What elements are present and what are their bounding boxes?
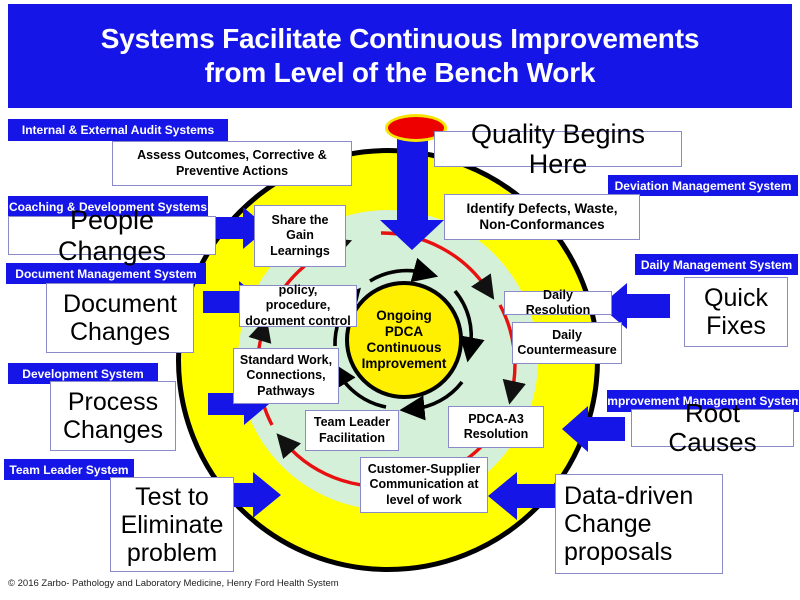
step-text: Daily Resolution <box>510 288 606 319</box>
cycle-step-team-leader-facilitation[interactable]: Team Leader Facilitation <box>305 410 399 451</box>
callout-text: Quality Begins Here <box>441 119 675 179</box>
hub-line-3: Continuous <box>367 340 442 355</box>
hub-line-2: PDCA <box>385 324 423 339</box>
callout-text: Process Changes <box>57 388 169 444</box>
callout-test-to-eliminate-problem[interactable]: Test to Eliminate problem <box>110 477 234 572</box>
callout-quick-fixes[interactable]: Quick Fixes <box>684 277 788 347</box>
cycle-step-share-the-gain-learnings[interactable]: Share the Gain Learnings <box>254 205 346 267</box>
step-text: Share the Gain Learnings <box>260 213 340 259</box>
cycle-step-customer-supplier-communication[interactable]: Customer-Supplier Communication at level… <box>360 457 488 513</box>
callout-quality-begins-here[interactable]: Quality Begins Here <box>434 131 682 167</box>
hub-label: Ongoing PDCA Continuous Improvement <box>362 308 447 372</box>
step-text: Team Leader Facilitation <box>311 415 393 446</box>
step-text: Identify Defects, Waste, Non-Conformance… <box>450 201 634 234</box>
copyright-footer: © 2016 Zarbo- Pathology and Laboratory M… <box>8 578 339 589</box>
label-text: Document Management System <box>15 268 196 280</box>
page-title: Systems Facilitate Continuous Improvemen… <box>8 4 792 108</box>
hub-circle: Ongoing PDCA Continuous Improvement <box>345 281 463 399</box>
callout-process-changes[interactable]: Process Changes <box>50 381 176 451</box>
cycle-step-policy-procedure[interactable]: policy, procedure, document control <box>239 285 357 327</box>
title-line-2: from Level of the Bench Work <box>205 57 596 88</box>
callout-data-driven-change-proposals[interactable]: Data-driven Change proposals <box>555 474 723 574</box>
cycle-step-identify-defects[interactable]: Identify Defects, Waste, Non-Conformance… <box>444 194 640 240</box>
label-text: Daily Management System <box>641 259 792 271</box>
system-label-internal-external-audit[interactable]: Internal & External Audit Systems <box>8 119 228 141</box>
step-text: Customer-Supplier Communication at level… <box>366 462 482 508</box>
title-line-1: Systems Facilitate Continuous Improvemen… <box>101 23 699 54</box>
callout-people-changes[interactable]: People Changes <box>8 216 216 255</box>
callout-text: Document Changes <box>53 290 187 346</box>
callout-text: Test to Eliminate problem <box>117 483 227 567</box>
callout-assess-outcomes[interactable]: Assess Outcomes, Corrective & Preventive… <box>112 141 352 186</box>
step-text: policy, procedure, document control <box>245 283 351 329</box>
step-text: Standard Work, Connections, Pathways <box>239 353 333 399</box>
label-text: Internal & External Audit Systems <box>22 124 214 136</box>
cycle-step-daily-countermeasure[interactable]: Daily Countermeasure <box>512 322 622 364</box>
label-text: Deviation Management System <box>615 180 792 192</box>
system-label-daily-management[interactable]: Daily Management System <box>635 254 798 275</box>
system-label-document-management[interactable]: Document Management System <box>6 263 206 284</box>
callout-text: Root Causes <box>638 399 787 457</box>
label-text: Development System <box>22 368 143 380</box>
cycle-step-standard-work[interactable]: Standard Work, Connections, Pathways <box>233 348 339 404</box>
label-text: Team Leader System <box>9 464 128 476</box>
step-text: Daily Countermeasure <box>517 328 616 359</box>
step-text: PDCA-A3 Resolution <box>454 412 538 443</box>
diagram-canvas: Systems Facilitate Continuous Improvemen… <box>0 0 800 600</box>
callout-text: Quick Fixes <box>691 284 781 340</box>
hub-line-1: Ongoing <box>376 308 431 323</box>
title-text: Systems Facilitate Continuous Improvemen… <box>101 22 699 90</box>
callout-text: Assess Outcomes, Corrective & Preventive… <box>118 148 346 179</box>
callout-text: Data-driven Change proposals <box>564 482 716 566</box>
cycle-step-daily-resolution[interactable]: Daily Resolution <box>504 291 612 315</box>
callout-document-changes[interactable]: Document Changes <box>46 283 194 353</box>
cycle-step-pdca-a3-resolution[interactable]: PDCA-A3 Resolution <box>448 406 544 448</box>
hub-line-4: Improvement <box>362 356 447 371</box>
callout-root-causes[interactable]: Root Causes <box>631 409 794 447</box>
callout-text: People Changes <box>15 205 209 265</box>
